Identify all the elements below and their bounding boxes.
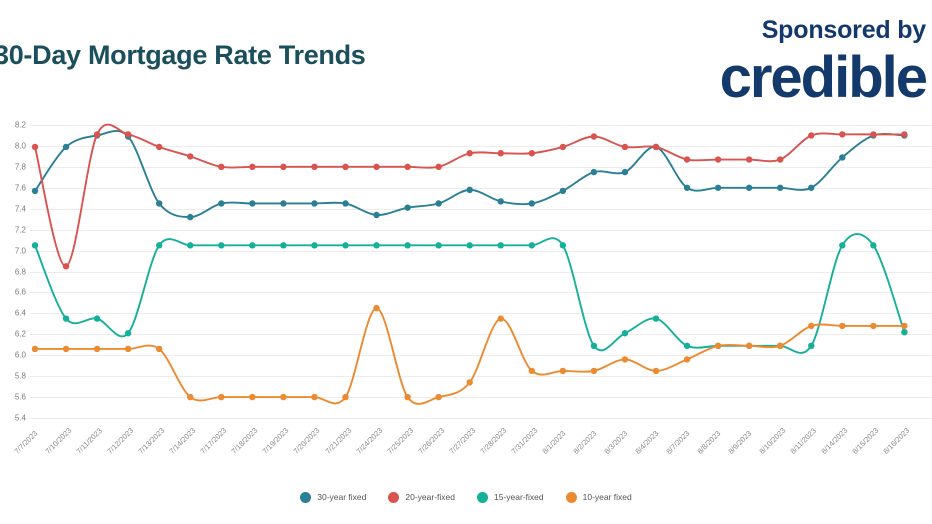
data-point[interactable] — [560, 368, 566, 374]
data-point[interactable] — [560, 188, 566, 194]
data-point[interactable] — [342, 242, 348, 248]
series-line — [35, 234, 904, 353]
data-point[interactable] — [901, 131, 907, 137]
x-axis-tick: 7/24/2023 — [354, 426, 384, 456]
legend-label: 30-year fixed — [317, 492, 366, 502]
data-point[interactable] — [373, 305, 379, 311]
x-axis-tick: 7/26/2023 — [416, 426, 446, 456]
data-point[interactable] — [32, 242, 38, 248]
series-3 — [32, 234, 908, 353]
data-point[interactable] — [622, 330, 628, 336]
chart-legend: 30-year fixed20-year-fixed15-year-fixed1… — [0, 485, 932, 509]
data-point[interactable] — [529, 150, 535, 156]
data-point[interactable] — [839, 131, 845, 137]
data-point[interactable] — [591, 169, 597, 175]
x-axis-tick: 8/10/2023 — [758, 426, 788, 456]
data-point[interactable] — [280, 394, 286, 400]
credible-logo: credible — [720, 49, 926, 107]
data-point[interactable] — [63, 315, 69, 321]
data-point[interactable] — [32, 346, 38, 352]
x-axis-tick: 8/16/2023 — [882, 426, 912, 456]
x-axis-tick: 7/12/2023 — [106, 426, 136, 456]
x-axis-tick: 7/17/2023 — [199, 426, 229, 456]
data-point[interactable] — [32, 144, 38, 150]
data-point[interactable] — [218, 164, 224, 170]
data-point[interactable] — [653, 315, 659, 321]
x-axis-tick: 7/19/2023 — [261, 426, 291, 456]
data-point[interactable] — [901, 323, 907, 329]
x-axis-tick: 7/13/2023 — [137, 426, 167, 456]
data-point[interactable] — [435, 200, 441, 206]
x-axis-tick: 7/27/2023 — [447, 426, 477, 456]
x-axis-tick: 7/10/2023 — [43, 426, 73, 456]
sponsored-by-label: Sponsored by — [720, 18, 926, 43]
data-point[interactable] — [311, 394, 317, 400]
legend-item-4[interactable]: 10-year fixed — [566, 492, 632, 503]
data-point[interactable] — [901, 329, 907, 335]
x-axis-tick: 8/9/2023 — [727, 429, 754, 456]
data-point[interactable] — [777, 343, 783, 349]
page-title: 30-Day Mortgage Rate Trends — [0, 40, 494, 71]
data-point[interactable] — [653, 368, 659, 374]
data-point[interactable] — [808, 132, 814, 138]
sponsor-block: Sponsored by credible — [720, 18, 926, 107]
data-point[interactable] — [63, 144, 69, 150]
data-point[interactable] — [622, 144, 628, 150]
data-point[interactable] — [622, 169, 628, 175]
data-point[interactable] — [63, 346, 69, 352]
legend-item-3[interactable]: 15-year-fixed — [477, 492, 544, 503]
x-axis-tick: 7/28/2023 — [478, 426, 508, 456]
data-point[interactable] — [311, 164, 317, 170]
data-point[interactable] — [467, 187, 473, 193]
data-point[interactable] — [280, 242, 286, 248]
data-point[interactable] — [156, 346, 162, 352]
mortgage-rate-chart-page: 30-Day Mortgage Rate Trends Sponsored by… — [0, 0, 932, 524]
data-point[interactable] — [342, 200, 348, 206]
legend-label: 20-year-fixed — [405, 492, 455, 502]
data-point[interactable] — [249, 200, 255, 206]
data-point[interactable] — [218, 242, 224, 248]
data-point[interactable] — [839, 154, 845, 160]
data-point[interactable] — [404, 164, 410, 170]
data-point[interactable] — [404, 242, 410, 248]
data-point[interactable] — [373, 212, 379, 218]
data-point[interactable] — [156, 242, 162, 248]
data-point[interactable] — [156, 200, 162, 206]
data-point[interactable] — [373, 242, 379, 248]
data-point[interactable] — [187, 214, 193, 220]
data-point[interactable] — [94, 315, 100, 321]
data-point[interactable] — [435, 394, 441, 400]
legend-item-2[interactable]: 20-year-fixed — [388, 492, 455, 503]
x-axis-tick: 7/31/2023 — [509, 426, 539, 456]
x-axis-tick: 7/21/2023 — [323, 426, 353, 456]
series-line — [35, 131, 904, 217]
data-point[interactable] — [498, 315, 504, 321]
data-point[interactable] — [653, 144, 659, 150]
data-point[interactable] — [373, 164, 379, 170]
data-point[interactable] — [342, 394, 348, 400]
data-point[interactable] — [249, 394, 255, 400]
series-line — [35, 308, 904, 404]
x-axis-tick: 8/1/2023 — [540, 429, 567, 456]
data-point[interactable] — [125, 330, 131, 336]
data-point[interactable] — [684, 185, 690, 191]
data-point[interactable] — [529, 368, 535, 374]
data-point[interactable] — [435, 164, 441, 170]
x-axis-tick: 8/15/2023 — [851, 426, 881, 456]
data-point[interactable] — [746, 185, 752, 191]
legend-item-1[interactable]: 30-year fixed — [300, 492, 366, 503]
data-point[interactable] — [94, 346, 100, 352]
data-point[interactable] — [622, 356, 628, 362]
data-point[interactable] — [808, 323, 814, 329]
data-point[interactable] — [125, 131, 131, 137]
data-point[interactable] — [311, 200, 317, 206]
legend-label: 10-year fixed — [583, 492, 632, 502]
data-point[interactable] — [591, 133, 597, 139]
x-axis-tick: 7/14/2023 — [168, 426, 198, 456]
data-point[interactable] — [404, 204, 410, 210]
data-point[interactable] — [498, 242, 504, 248]
data-point[interactable] — [529, 200, 535, 206]
data-point[interactable] — [560, 144, 566, 150]
x-axis-tick: 8/4/2023 — [633, 429, 660, 456]
data-point[interactable] — [839, 323, 845, 329]
series-1 — [32, 131, 908, 220]
chart-series-layer — [0, 118, 932, 428]
data-point[interactable] — [560, 242, 566, 248]
data-point[interactable] — [187, 242, 193, 248]
x-axis-labels: 7/7/20237/10/20237/11/20237/12/20237/13/… — [0, 424, 932, 482]
data-point[interactable] — [342, 164, 348, 170]
data-point[interactable] — [684, 343, 690, 349]
data-point[interactable] — [870, 323, 876, 329]
data-point[interactable] — [715, 156, 721, 162]
data-point[interactable] — [280, 200, 286, 206]
data-point[interactable] — [467, 379, 473, 385]
legend-label: 15-year-fixed — [494, 492, 544, 502]
data-point[interactable] — [94, 131, 100, 137]
data-point[interactable] — [280, 164, 286, 170]
data-point[interactable] — [808, 343, 814, 349]
data-point[interactable] — [467, 150, 473, 156]
plot-area: 8.28.07.87.67.47.27.06.86.66.46.26.05.85… — [0, 118, 932, 428]
data-point[interactable] — [249, 164, 255, 170]
data-point[interactable] — [498, 198, 504, 204]
x-axis-tick: 7/25/2023 — [385, 426, 415, 456]
legend-swatch-icon — [566, 492, 577, 503]
series-4 — [32, 305, 908, 404]
data-point[interactable] — [156, 144, 162, 150]
data-point[interactable] — [529, 242, 535, 248]
data-point[interactable] — [467, 242, 473, 248]
data-point[interactable] — [808, 185, 814, 191]
legend-swatch-icon — [300, 492, 311, 503]
x-axis-tick: 7/18/2023 — [230, 426, 260, 456]
data-point[interactable] — [404, 394, 410, 400]
data-point[interactable] — [32, 188, 38, 194]
data-point[interactable] — [870, 131, 876, 137]
data-point[interactable] — [498, 150, 504, 156]
data-point[interactable] — [715, 343, 721, 349]
data-point[interactable] — [746, 343, 752, 349]
data-point[interactable] — [218, 394, 224, 400]
x-axis-tick: 7/20/2023 — [292, 426, 322, 456]
x-axis-tick: 8/14/2023 — [820, 426, 850, 456]
data-point[interactable] — [591, 343, 597, 349]
x-axis-tick: 8/3/2023 — [602, 429, 629, 456]
legend-swatch-icon — [477, 492, 488, 503]
data-point[interactable] — [870, 242, 876, 248]
x-axis-tick: 8/11/2023 — [789, 426, 819, 456]
data-point[interactable] — [435, 242, 441, 248]
data-point[interactable] — [777, 156, 783, 162]
data-point[interactable] — [591, 368, 597, 374]
data-point[interactable] — [249, 242, 255, 248]
data-point[interactable] — [684, 356, 690, 362]
data-point[interactable] — [777, 185, 783, 191]
x-axis-tick: 7/11/2023 — [74, 426, 104, 456]
data-point[interactable] — [746, 156, 752, 162]
x-axis-tick: 8/2/2023 — [571, 429, 598, 456]
legend-swatch-icon — [388, 492, 399, 503]
data-point[interactable] — [187, 153, 193, 159]
data-point[interactable] — [715, 185, 721, 191]
data-point[interactable] — [839, 242, 845, 248]
data-point[interactable] — [311, 242, 317, 248]
data-point[interactable] — [218, 200, 224, 206]
data-point[interactable] — [187, 394, 193, 400]
data-point[interactable] — [125, 346, 131, 352]
data-point[interactable] — [63, 263, 69, 269]
x-axis-tick: 8/8/2023 — [695, 429, 722, 456]
x-axis-tick: 8/7/2023 — [664, 429, 691, 456]
data-point[interactable] — [684, 156, 690, 162]
x-axis-tick: 7/7/2023 — [12, 429, 39, 456]
